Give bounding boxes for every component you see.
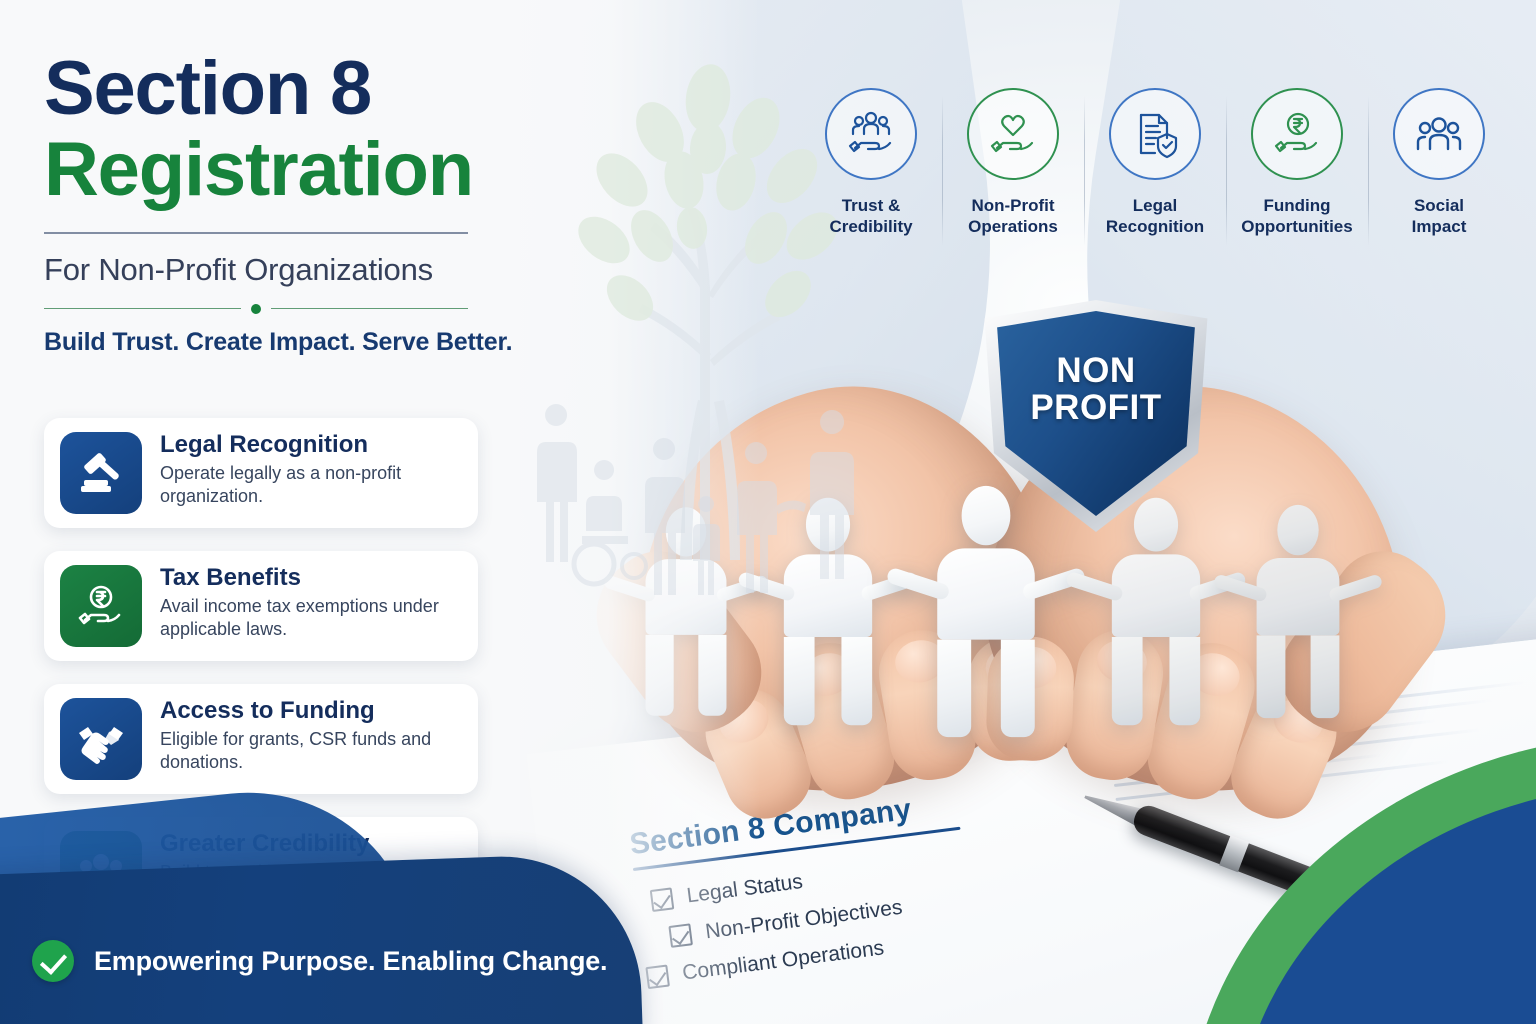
- icon-circle: [825, 88, 917, 180]
- icon-label: Social Impact: [1412, 196, 1467, 237]
- card-description: Avail income tax exemptions under applic…: [160, 595, 462, 641]
- card-icon-tile: [60, 565, 142, 647]
- icon-label: Legal Recognition: [1106, 196, 1204, 237]
- benefit-card-access-to-funding[interactable]: Access to Funding Eligible for grants, C…: [44, 684, 478, 794]
- divider-line-left: [44, 308, 241, 310]
- card-body: Legal Recognition Operate legally as a n…: [160, 432, 462, 508]
- shield-line-1: NON: [980, 352, 1212, 389]
- subtitle: For Non-Profit Organizations: [44, 252, 604, 288]
- icon-label: Non-Profit Operations: [968, 196, 1058, 237]
- benefits-icon-row: Trust & Credibility Non-Profit Operation…: [800, 88, 1510, 237]
- non-profit-shield: NON PROFIT: [980, 300, 1212, 532]
- benefit-card-legal-recognition[interactable]: Legal Recognition Operate legally as a n…: [44, 418, 478, 528]
- headline-block: Section 8 Registration For Non-Profit Or…: [44, 52, 604, 357]
- icon-label: Trust & Credibility: [829, 196, 912, 237]
- paper-person: [1257, 505, 1340, 718]
- divider-dot: [251, 304, 261, 314]
- document-shield-check-icon: [1129, 108, 1181, 160]
- card-body: Tax Benefits Avail income tax exemptions…: [160, 565, 462, 641]
- tagline: Build Trust. Create Impact. Serve Better…: [44, 328, 604, 357]
- page-title-line1: Section 8: [44, 52, 604, 126]
- card-description: Eligible for grants, CSR funds and donat…: [160, 728, 462, 774]
- icon-item-trust-credibility[interactable]: Trust & Credibility: [800, 88, 942, 237]
- community-silhouettes-watermark: [520, 330, 880, 610]
- divider-line-right: [271, 308, 468, 310]
- icon-item-funding-opportunities[interactable]: Funding Opportunities: [1226, 88, 1368, 237]
- hand-holding-rupee-coin-icon: [1271, 108, 1323, 160]
- card-icon-tile: [60, 432, 142, 514]
- banner-tagline: Empowering Purpose. Enabling Change.: [94, 946, 607, 977]
- icon-item-non-profit-operations[interactable]: Non-Profit Operations: [942, 88, 1084, 237]
- gavel-icon: [76, 448, 126, 498]
- card-icon-tile: [60, 698, 142, 780]
- icon-item-legal-recognition[interactable]: Legal Recognition: [1084, 88, 1226, 237]
- subtitle-divider: [44, 304, 468, 314]
- shield-text: NON PROFIT: [980, 352, 1212, 426]
- hand-holding-heart-icon: [987, 108, 1039, 160]
- hand-holding-rupee-icon: [76, 581, 126, 631]
- benefit-card-tax-benefits[interactable]: Tax Benefits Avail income tax exemptions…: [44, 551, 478, 661]
- bottom-banner: [0, 852, 643, 1024]
- card-title: Tax Benefits: [160, 565, 462, 591]
- card-body: Access to Funding Eligible for grants, C…: [160, 698, 462, 774]
- handshake-icon: [75, 713, 127, 765]
- card-title: Legal Recognition: [160, 432, 462, 458]
- icon-circle: [1393, 88, 1485, 180]
- card-description: Operate legally as a non-profit organiza…: [160, 462, 462, 508]
- check-circle-icon: [32, 940, 74, 982]
- headline-divider: [44, 232, 468, 234]
- icon-circle: [1109, 88, 1201, 180]
- page-title-line2: Registration: [44, 130, 604, 209]
- infographic-canvas: Section 8 Company Legal Status Non-Profi…: [0, 0, 1536, 1024]
- icon-item-social-impact[interactable]: Social Impact: [1368, 88, 1510, 237]
- icon-label: Funding Opportunities: [1241, 196, 1352, 237]
- icon-circle: [1251, 88, 1343, 180]
- shield-line-2: PROFIT: [980, 389, 1212, 426]
- card-title: Access to Funding: [160, 698, 462, 724]
- banner-content: Empowering Purpose. Enabling Change.: [32, 940, 607, 982]
- people-group-icon: [1413, 108, 1465, 160]
- hand-holding-people-icon: [845, 108, 897, 160]
- icon-circle: [967, 88, 1059, 180]
